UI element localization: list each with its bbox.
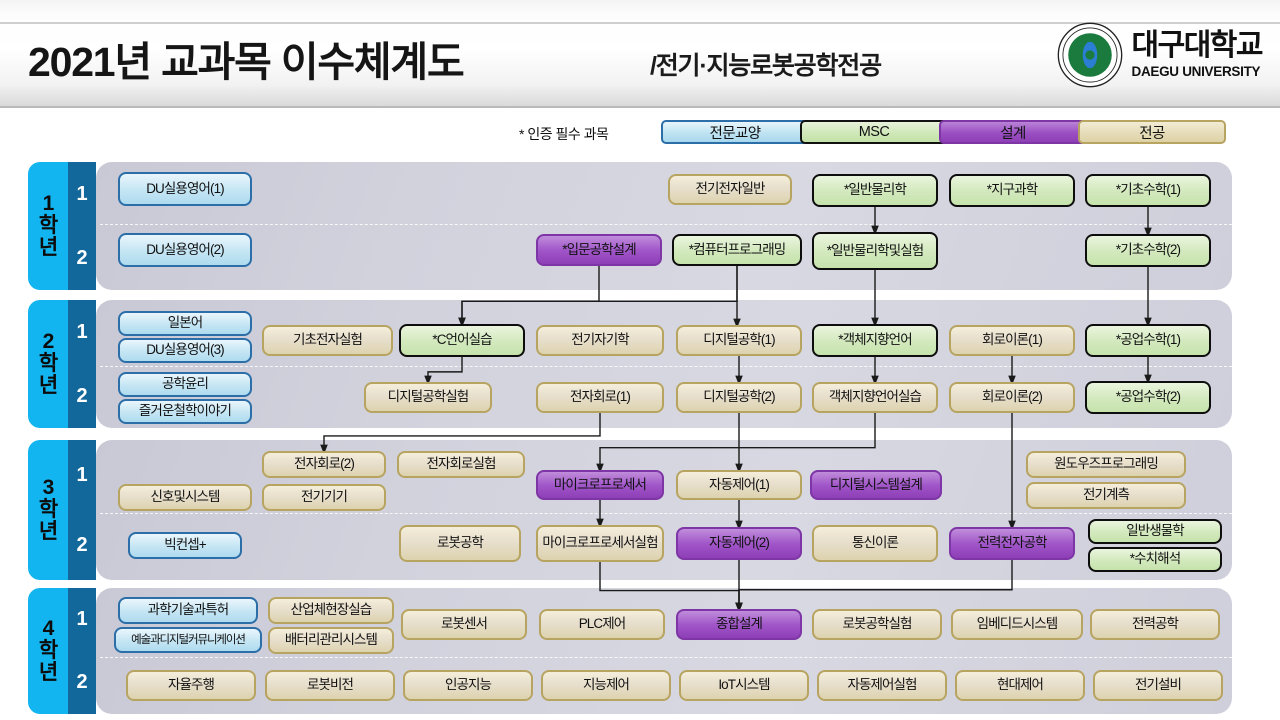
course-label: DU실용영어(3) (146, 343, 224, 358)
course-label: IoT시스템 (718, 678, 769, 693)
course-box-phil[interactable]: 즐거운철학이야기 (118, 399, 252, 424)
course-label: 자동제어(2) (709, 536, 769, 551)
university-seal-icon (1057, 22, 1123, 88)
course-box-auto1[interactable]: 자동제어(1) (676, 470, 802, 500)
course-label: *공업수학(1) (1116, 333, 1180, 348)
course-label: 로봇공학 (437, 536, 483, 551)
course-box-earth[interactable]: *지구과학 (949, 174, 1075, 207)
university-name-en: DAEGU UNIVERSITY (1132, 65, 1263, 79)
course-label: *기초수학(2) (1116, 243, 1180, 258)
semester-divider-2 (100, 366, 1232, 367)
course-label: 전기전자일반 (695, 182, 764, 197)
course-label: 마이크로프로세서실험 (542, 536, 657, 551)
course-box-dige[interactable]: 디지털공학실험 (364, 382, 492, 413)
semester-tab-1-2[interactable]: 2 (68, 226, 96, 290)
course-box-ai[interactable]: 인공지능 (403, 670, 533, 701)
course-label: *지구과학 (987, 183, 1037, 198)
course-box-ied[interactable]: *입문공학설계 (536, 234, 662, 266)
course-label: 임베디드시스템 (977, 617, 1058, 632)
course-box-du2[interactable]: DU실용영어(2) (118, 233, 252, 267)
course-box-robot[interactable]: 로봇공학 (399, 525, 521, 562)
course-box-bigc[interactable]: 빅컨셉+ (128, 532, 242, 559)
semester-tab-4-2[interactable]: 2 (68, 651, 96, 714)
course-label: *객체지향언어 (838, 333, 911, 348)
course-label: 인공지능 (445, 678, 491, 693)
course-box-field[interactable]: 산업체현장실습 (268, 597, 394, 624)
course-label: *기초수학(1) (1116, 183, 1180, 198)
course-label: 전력공학 (1132, 617, 1178, 632)
course-label: 로봇센서 (441, 617, 487, 632)
semester-divider-3 (100, 513, 1232, 514)
course-box-winp[interactable]: 원도우즈프로그래밍 (1026, 451, 1186, 478)
course-box-cprog[interactable]: *컴퓨터프로그래밍 (672, 234, 802, 266)
course-label: *수치해석 (1130, 552, 1180, 567)
year-tab-1[interactable]: 1학년 (28, 162, 68, 290)
course-box-artdc[interactable]: 예술과디지털커뮤니케이션 (114, 627, 262, 653)
course-box-pwr[interactable]: 전력공학 (1090, 609, 1220, 640)
course-label: 예술과디지털커뮤니케이션 (131, 634, 245, 646)
course-label: 마이크로프로세서 (554, 478, 646, 493)
year-tab-label-4: 4학년 (39, 618, 57, 685)
course-box-ecir2[interactable]: 전자회로(2) (262, 451, 386, 478)
course-label: 신호및시스템 (150, 490, 219, 505)
course-label: 현대제어 (997, 678, 1043, 693)
course-label: *공업수학(2) (1116, 390, 1180, 405)
course-box-ecir1[interactable]: 전자회로(1) (536, 382, 664, 413)
course-box-clang[interactable]: *C언어실습 (399, 324, 525, 357)
course-box-mctrl[interactable]: 현대제어 (955, 670, 1085, 701)
course-box-dsd[interactable]: 디지털시스템설계 (810, 470, 942, 500)
course-box-dig1[interactable]: 디지털공학(1) (676, 325, 802, 356)
course-box-efac[interactable]: 전기설비 (1093, 670, 1223, 701)
course-box-cir2[interactable]: 회로이론(2) (949, 382, 1075, 413)
semester-tab-2-1[interactable]: 1 (68, 300, 96, 364)
course-label: 회로이론(1) (982, 333, 1042, 348)
course-label: 일반생물학 (1126, 524, 1184, 539)
semester-divider-1 (100, 224, 1232, 225)
course-box-bio[interactable]: 일반생물학 (1088, 519, 1222, 544)
year-tab-label-3: 3학년 (39, 477, 57, 544)
page-title: 2021년 교과목 이수체계도 (28, 28, 463, 88)
semester-tab-3-1[interactable]: 1 (68, 440, 96, 510)
course-label: 산업체현장실습 (291, 603, 372, 618)
course-box-microe[interactable]: 마이크로프로세서실험 (536, 525, 664, 562)
course-box-phy1e[interactable]: *일반물리학및실험 (812, 232, 938, 270)
course-label: 로봇공학실험 (842, 617, 911, 632)
course-label: 자동제어(1) (709, 478, 769, 493)
course-box-oop[interactable]: *객체지향언어 (812, 324, 938, 357)
legend-item-design: 설계 (939, 120, 1087, 144)
semester-tab-2-2[interactable]: 2 (68, 364, 96, 428)
course-box-cir1[interactable]: 회로이론(1) (949, 325, 1075, 356)
course-box-ejg[interactable]: 전기전자일반 (668, 174, 792, 205)
course-box-iot[interactable]: IoT시스템 (679, 670, 809, 701)
course-label: 지능제어 (583, 678, 629, 693)
course-box-oope[interactable]: 객체지향언어실습 (812, 382, 938, 413)
course-label: 전자회로(2) (294, 457, 354, 472)
course-box-caps[interactable]: 종합설계 (676, 609, 802, 640)
university-logo: 대구대학교 DAEGU UNIVERSITY (1057, 22, 1263, 88)
course-label: 과학기술과특허 (148, 603, 229, 618)
course-box-bee[interactable]: 기초전자실험 (262, 325, 393, 356)
course-label: 회로이론(2) (982, 390, 1042, 405)
course-box-adrv[interactable]: 자율주행 (126, 670, 256, 701)
course-box-du1[interactable]: DU실용영어(1) (118, 172, 252, 206)
course-label: 통신이론 (852, 536, 898, 551)
course-box-ictrl[interactable]: 지능제어 (541, 670, 671, 701)
course-label: 자율주행 (168, 678, 214, 693)
course-label: DU실용영어(2) (146, 243, 224, 258)
course-box-numer[interactable]: *수치해석 (1088, 547, 1222, 572)
semester-tab-3-2[interactable]: 2 (68, 510, 96, 580)
course-box-sctec[interactable]: 과학기술과특허 (118, 597, 258, 624)
course-box-powel[interactable]: 전력전자공학 (949, 527, 1075, 560)
legend-item-jmg: 전문교양 (661, 120, 809, 144)
course-box-sigsys[interactable]: 신호및시스템 (118, 484, 252, 511)
course-label: 디지털공학(2) (703, 390, 774, 405)
course-label: *입문공학설계 (562, 243, 635, 258)
course-label: 공학윤리 (162, 377, 208, 392)
course-label: 디지털공학(1) (703, 333, 774, 348)
course-box-robe[interactable]: 로봇공학실험 (812, 609, 942, 640)
course-label: *C언어실습 (432, 333, 491, 348)
course-box-eng1[interactable]: *공업수학(1) (1085, 324, 1211, 357)
course-box-auto2[interactable]: 자동제어(2) (676, 527, 802, 560)
course-label: 객체지향언어실습 (829, 390, 921, 405)
course-label: 원도우즈프로그래밍 (1054, 457, 1158, 472)
course-label: 로봇비전 (307, 678, 353, 693)
page-subtitle: /전기·지능로봇공학전공 (650, 46, 881, 82)
course-label: 전기자기학 (571, 333, 629, 348)
course-label: PLC제어 (579, 617, 626, 632)
course-box-comm[interactable]: 통신이론 (812, 525, 938, 562)
course-box-math2[interactable]: *기초수학(2) (1085, 234, 1211, 267)
legend-item-major: 전공 (1078, 120, 1226, 144)
course-label: 전력전자공학 (977, 536, 1046, 551)
course-box-ecire[interactable]: 전자회로실험 (397, 451, 525, 478)
course-label: 전기계측 (1083, 488, 1129, 503)
course-label: DU실용영어(1) (146, 182, 224, 197)
legend-item-msc: MSC (800, 120, 948, 144)
page-header: 2021년 교과목 이수체계도 /전기·지능로봇공학전공 대구대학교 DAEGU… (0, 0, 1280, 108)
course-label: 기초전자실험 (293, 333, 362, 348)
course-label: *일반물리학 (844, 183, 906, 198)
course-box-emach[interactable]: 전기기기 (262, 484, 386, 511)
course-box-ethic[interactable]: 공학윤리 (118, 372, 252, 397)
course-label: 디지털공학실험 (388, 390, 469, 405)
course-label: 전기기기 (301, 490, 347, 505)
semester-tab-1-1[interactable]: 1 (68, 162, 96, 226)
course-label: *일반물리학및실험 (827, 244, 924, 259)
year-tab-label-1: 1학년 (39, 193, 57, 260)
semester-divider-4 (100, 657, 1232, 658)
course-box-du3[interactable]: DU실용영어(3) (118, 338, 252, 363)
year-tab-3[interactable]: 3학년 (28, 440, 68, 580)
course-label: 전자회로실험 (426, 457, 495, 472)
course-box-emeas[interactable]: 전기계측 (1026, 482, 1186, 509)
course-box-phy1[interactable]: *일반물리학 (812, 174, 938, 207)
course-box-emag[interactable]: 전기자기학 (536, 325, 664, 356)
course-label: 일본어 (168, 316, 203, 331)
year-tab-4[interactable]: 4학년 (28, 588, 68, 714)
course-box-eng2[interactable]: *공업수학(2) (1085, 381, 1211, 414)
course-box-rsens[interactable]: 로봇센서 (401, 609, 527, 640)
course-label: 디지털시스템설계 (830, 478, 922, 493)
course-box-micro[interactable]: 마이크로프로세서 (536, 470, 664, 500)
course-label: 종합설계 (716, 617, 762, 632)
course-box-plc[interactable]: PLC제어 (539, 609, 665, 640)
course-label: 즐거운철학이야기 (139, 404, 231, 419)
course-box-dig2[interactable]: 디지털공학(2) (676, 382, 802, 413)
year-tab-label-2: 2학년 (39, 331, 57, 398)
university-name-ko: 대구대학교 (1132, 31, 1263, 61)
course-box-jpn[interactable]: 일본어 (118, 311, 252, 336)
course-box-bms[interactable]: 배터리관리시스템 (268, 627, 394, 654)
course-label: 전자회로(1) (570, 390, 630, 405)
course-label: *컴퓨터프로그래밍 (689, 243, 786, 258)
course-label: 자동제어실험 (847, 678, 916, 693)
course-label: 빅컨셉+ (164, 538, 206, 553)
course-label: 배터리관리시스템 (285, 633, 377, 648)
course-box-math1[interactable]: *기초수학(1) (1085, 174, 1211, 207)
course-box-embed[interactable]: 임베디드시스템 (951, 609, 1083, 640)
year-tab-2[interactable]: 2학년 (28, 300, 68, 428)
semester-tab-4-1[interactable]: 1 (68, 588, 96, 651)
course-label: 전기설비 (1135, 678, 1181, 693)
course-box-autoe[interactable]: 자동제어실험 (817, 670, 947, 701)
course-box-rvis[interactable]: 로봇비전 (265, 670, 395, 701)
legend-note: * 인증 필수 과목 (519, 124, 608, 144)
